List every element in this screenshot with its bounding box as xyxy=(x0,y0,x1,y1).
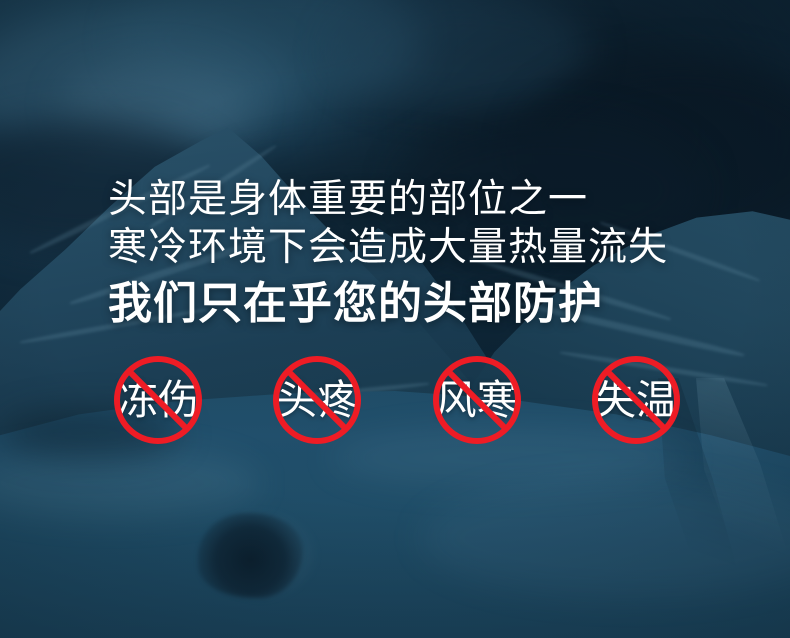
headline-line-2: 寒冷环境下会造成大量热量流失 xyxy=(108,224,688,272)
badge-label: 失温 xyxy=(595,377,677,423)
prohibition-badge-hypothermia: 失温 xyxy=(575,352,697,448)
product-banner: 头部是身体重要的部位之一 寒冷环境下会造成大量热量流失 我们只在乎您的头部防护 … xyxy=(0,0,790,638)
badge-label: 头疼 xyxy=(276,377,358,423)
prohibition-badge-row: 冻伤 头疼 风寒 xyxy=(97,350,697,450)
headline-block: 头部是身体重要的部位之一 寒冷环境下会造成大量热量流失 我们只在乎您的头部防护 xyxy=(108,176,688,332)
headline-line-3: 我们只在乎您的头部防护 xyxy=(108,276,688,332)
headline-line-1: 头部是身体重要的部位之一 xyxy=(108,176,688,224)
prohibition-badge-headache: 头疼 xyxy=(256,352,378,448)
badge-label: 风寒 xyxy=(436,377,518,423)
prohibition-badge-frostbite: 冻伤 xyxy=(97,352,219,448)
badge-label: 冻伤 xyxy=(117,377,199,423)
prohibition-badge-wind-chill: 风寒 xyxy=(416,352,538,448)
